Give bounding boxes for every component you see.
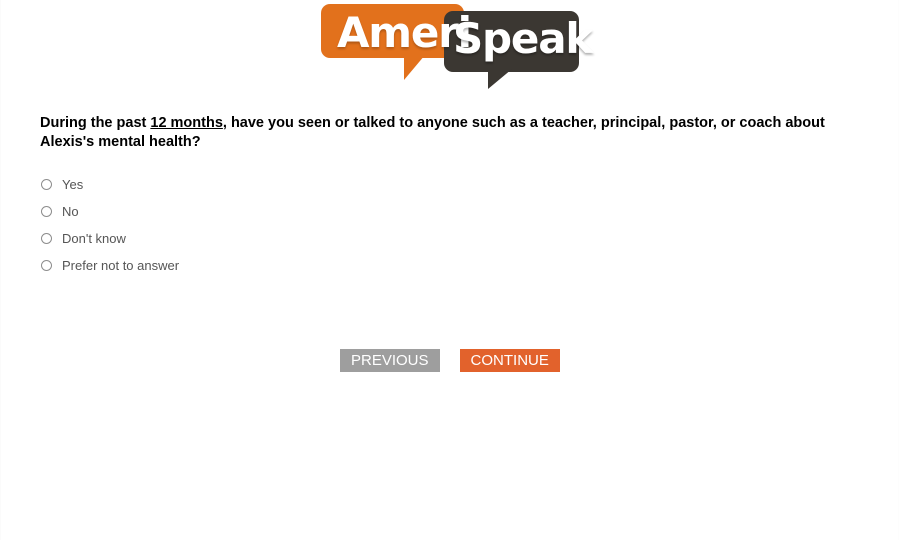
option-row-no[interactable]: No [41,198,441,225]
radio-button-prefer-not-to-answer[interactable] [41,260,52,271]
radio-button-yes[interactable] [41,179,52,190]
option-row-prefer-not-to-answer[interactable]: Prefer not to answer [41,252,441,279]
survey-page: Ameri Speak During the past 12 months, h… [0,0,899,540]
logo-word-ameri: Ameri [337,12,471,54]
option-label-no: No [62,205,79,218]
question-prefix: During the past [40,115,150,131]
previous-button[interactable]: PREVIOUS [340,349,440,372]
answer-options-group: Yes No Don't know Prefer not to answer [41,171,441,279]
amerispeak-logo: Ameri Speak [319,0,583,92]
option-label-prefer-not-to-answer: Prefer not to answer [62,259,179,272]
logo-orange-bubble-tail-icon [404,55,425,80]
radio-button-no[interactable] [41,206,52,217]
question-underlined-term: 12 months [150,115,223,131]
option-row-dont-know[interactable]: Don't know [41,225,441,252]
logo-dark-bubble-tail-icon [488,69,512,89]
continue-button[interactable]: CONTINUE [460,349,560,372]
logo-word-speak: Speak [453,18,592,60]
option-row-yes[interactable]: Yes [41,171,441,198]
option-label-dont-know: Don't know [62,232,126,245]
option-label-yes: Yes [62,178,83,191]
navigation-bar: PREVIOUS CONTINUE [340,349,560,372]
radio-button-dont-know[interactable] [41,233,52,244]
question-text: During the past 12 months, have you seen… [40,114,846,152]
